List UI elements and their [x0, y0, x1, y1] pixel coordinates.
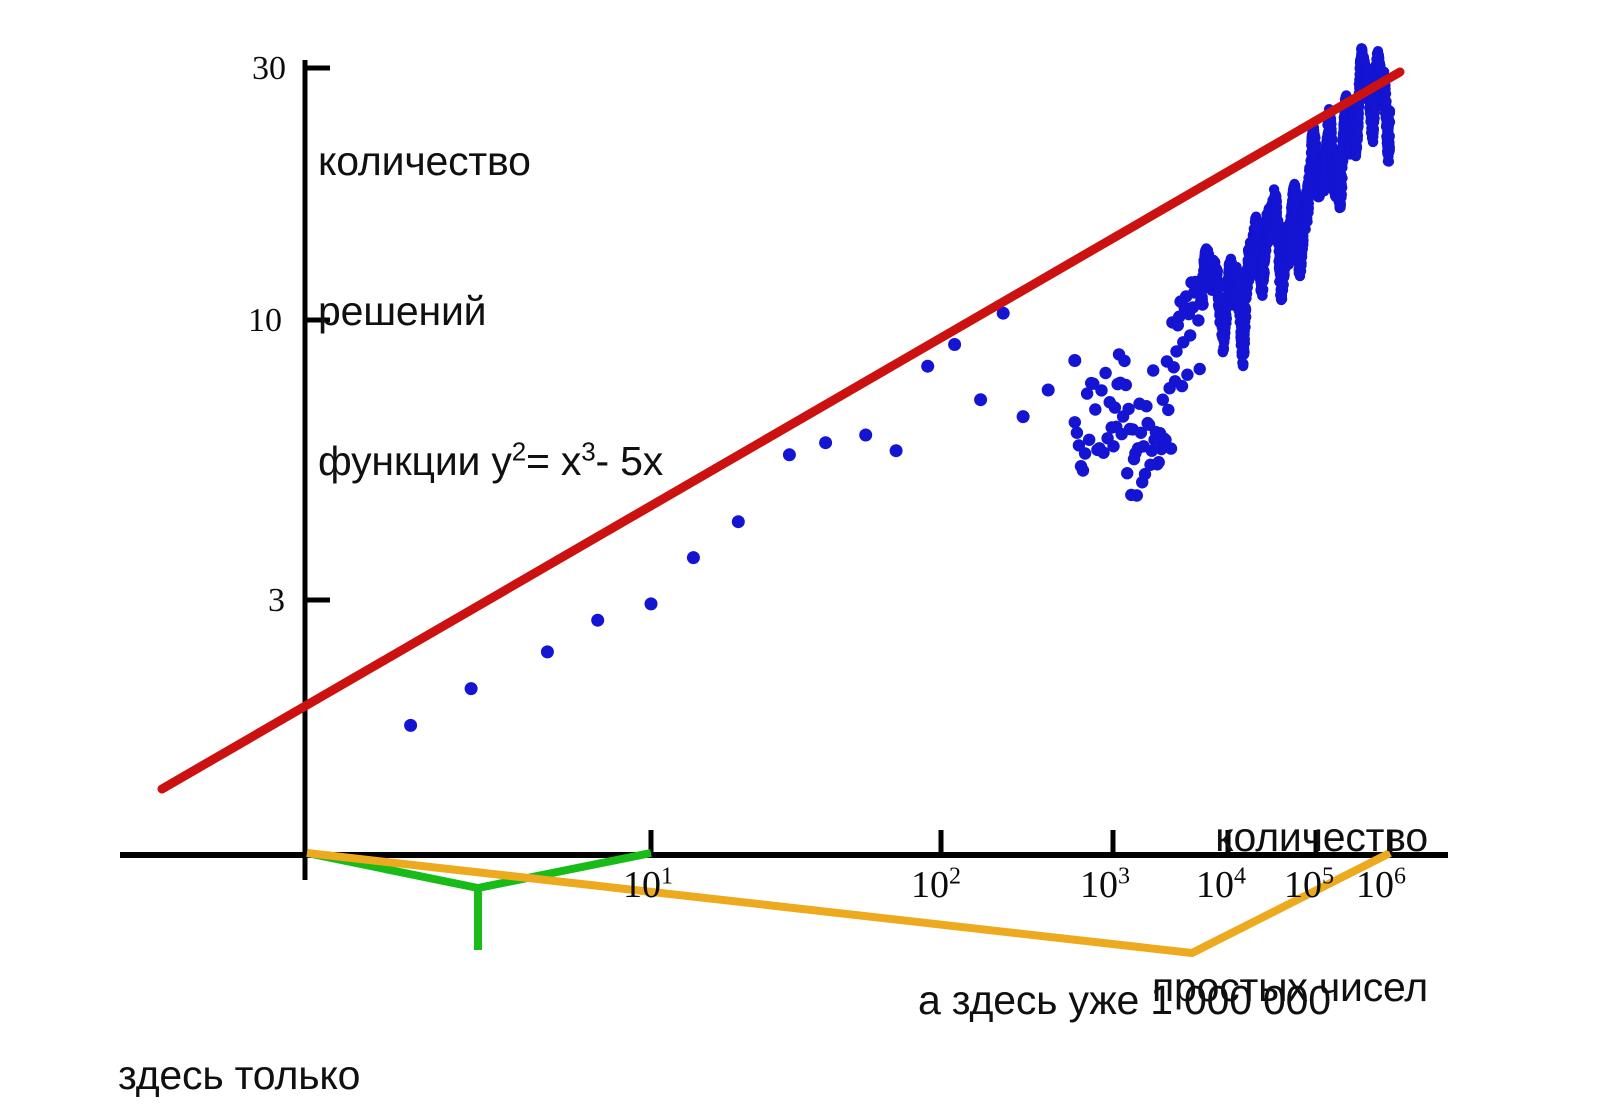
data-point: [541, 645, 554, 658]
data-point: [1181, 369, 1193, 381]
data-point: [1260, 268, 1270, 278]
data-point: [1384, 156, 1394, 166]
data-point: [1385, 142, 1395, 152]
x-axis-caption: количество простых чисел: [1078, 712, 1428, 1108]
green-bracket-note: здесь только первые 10 простых чисел: [118, 950, 602, 1108]
data-point: [1099, 367, 1111, 379]
data-point: [890, 444, 903, 457]
data-point: [1118, 355, 1130, 367]
data-point: [1017, 410, 1030, 423]
data-point: [1153, 456, 1165, 468]
data-point: [1240, 338, 1250, 348]
data-point: [1240, 322, 1250, 332]
data-point: [404, 719, 417, 732]
data-point: [1298, 235, 1308, 245]
data-point: [1147, 364, 1159, 376]
data-point: [1122, 403, 1134, 415]
y-axis-caption: количество решений функции y2= x3- 5x: [318, 36, 663, 586]
data-point: [1107, 440, 1119, 452]
data-point: [1140, 400, 1152, 412]
data-point: [1121, 467, 1133, 479]
formula-sup-3: 3: [581, 436, 595, 466]
green-note-line1: здесь только: [118, 1050, 602, 1100]
y-axis-caption-line1: количество: [318, 136, 663, 186]
data-point: [591, 614, 604, 627]
data-point: [465, 682, 478, 695]
data-point: [1337, 173, 1347, 183]
formula-part-a: функции y: [318, 438, 512, 484]
data-point: [1184, 329, 1196, 341]
data-point: [645, 597, 658, 610]
data-point: [1239, 347, 1249, 357]
chart-canvas: 30 10 3 101 102 103 104 105 106 количест…: [0, 0, 1600, 1108]
data-point: [1168, 361, 1180, 373]
data-point: [1079, 447, 1091, 459]
data-point: [1077, 464, 1089, 476]
data-point: [783, 448, 796, 461]
data-point: [1165, 442, 1177, 454]
data-point: [1302, 216, 1312, 226]
x-tick-label-10e2: 102: [911, 866, 961, 904]
formula-part-b: = x: [526, 438, 581, 484]
y-axis-caption-line3: функции y2= x3- 5x: [318, 436, 663, 486]
orange-bracket-note: а здесь уже 1 000 000: [918, 975, 1331, 1025]
data-point: [1272, 202, 1282, 212]
data-point: [1120, 379, 1132, 391]
data-point: [1198, 294, 1208, 304]
data-point: [1162, 404, 1174, 416]
data-point: [1176, 380, 1188, 392]
data-point: [1042, 384, 1055, 397]
data-point: [921, 360, 934, 373]
data-point: [1192, 314, 1204, 326]
data-point: [974, 393, 987, 406]
formula-sup-2: 2: [512, 436, 526, 466]
data-point: [687, 551, 700, 564]
y-tick-label-10: 10: [248, 302, 282, 340]
data-point: [1222, 313, 1232, 323]
data-point: [1071, 427, 1083, 439]
data-point: [1337, 182, 1347, 192]
data-point: [1385, 106, 1395, 116]
data-point: [1095, 384, 1107, 396]
green-bracket: [307, 853, 651, 950]
data-point: [1238, 359, 1248, 369]
formula-part-c: - 5x: [596, 438, 664, 484]
data-point: [1194, 363, 1206, 375]
data-point: [1131, 489, 1143, 501]
data-point: [948, 338, 961, 351]
data-point: [1069, 416, 1081, 428]
data-point: [1083, 434, 1095, 446]
x-tick-label-10e1: 101: [623, 866, 673, 904]
data-point: [859, 429, 872, 442]
data-point: [1068, 354, 1081, 367]
x-axis-caption-line1: количество: [1078, 812, 1428, 862]
data-point: [819, 436, 832, 449]
data-point: [1241, 312, 1251, 322]
data-point: [1304, 203, 1314, 213]
data-point: [1213, 266, 1223, 276]
data-point: [732, 515, 745, 528]
data-point: [1089, 403, 1101, 415]
y-axis-caption-line2: решений: [318, 286, 663, 336]
y-tick-label-30: 30: [252, 50, 286, 88]
data-point: [1385, 131, 1395, 141]
y-tick-label-3: 3: [268, 582, 285, 620]
data-point: [1385, 117, 1395, 127]
